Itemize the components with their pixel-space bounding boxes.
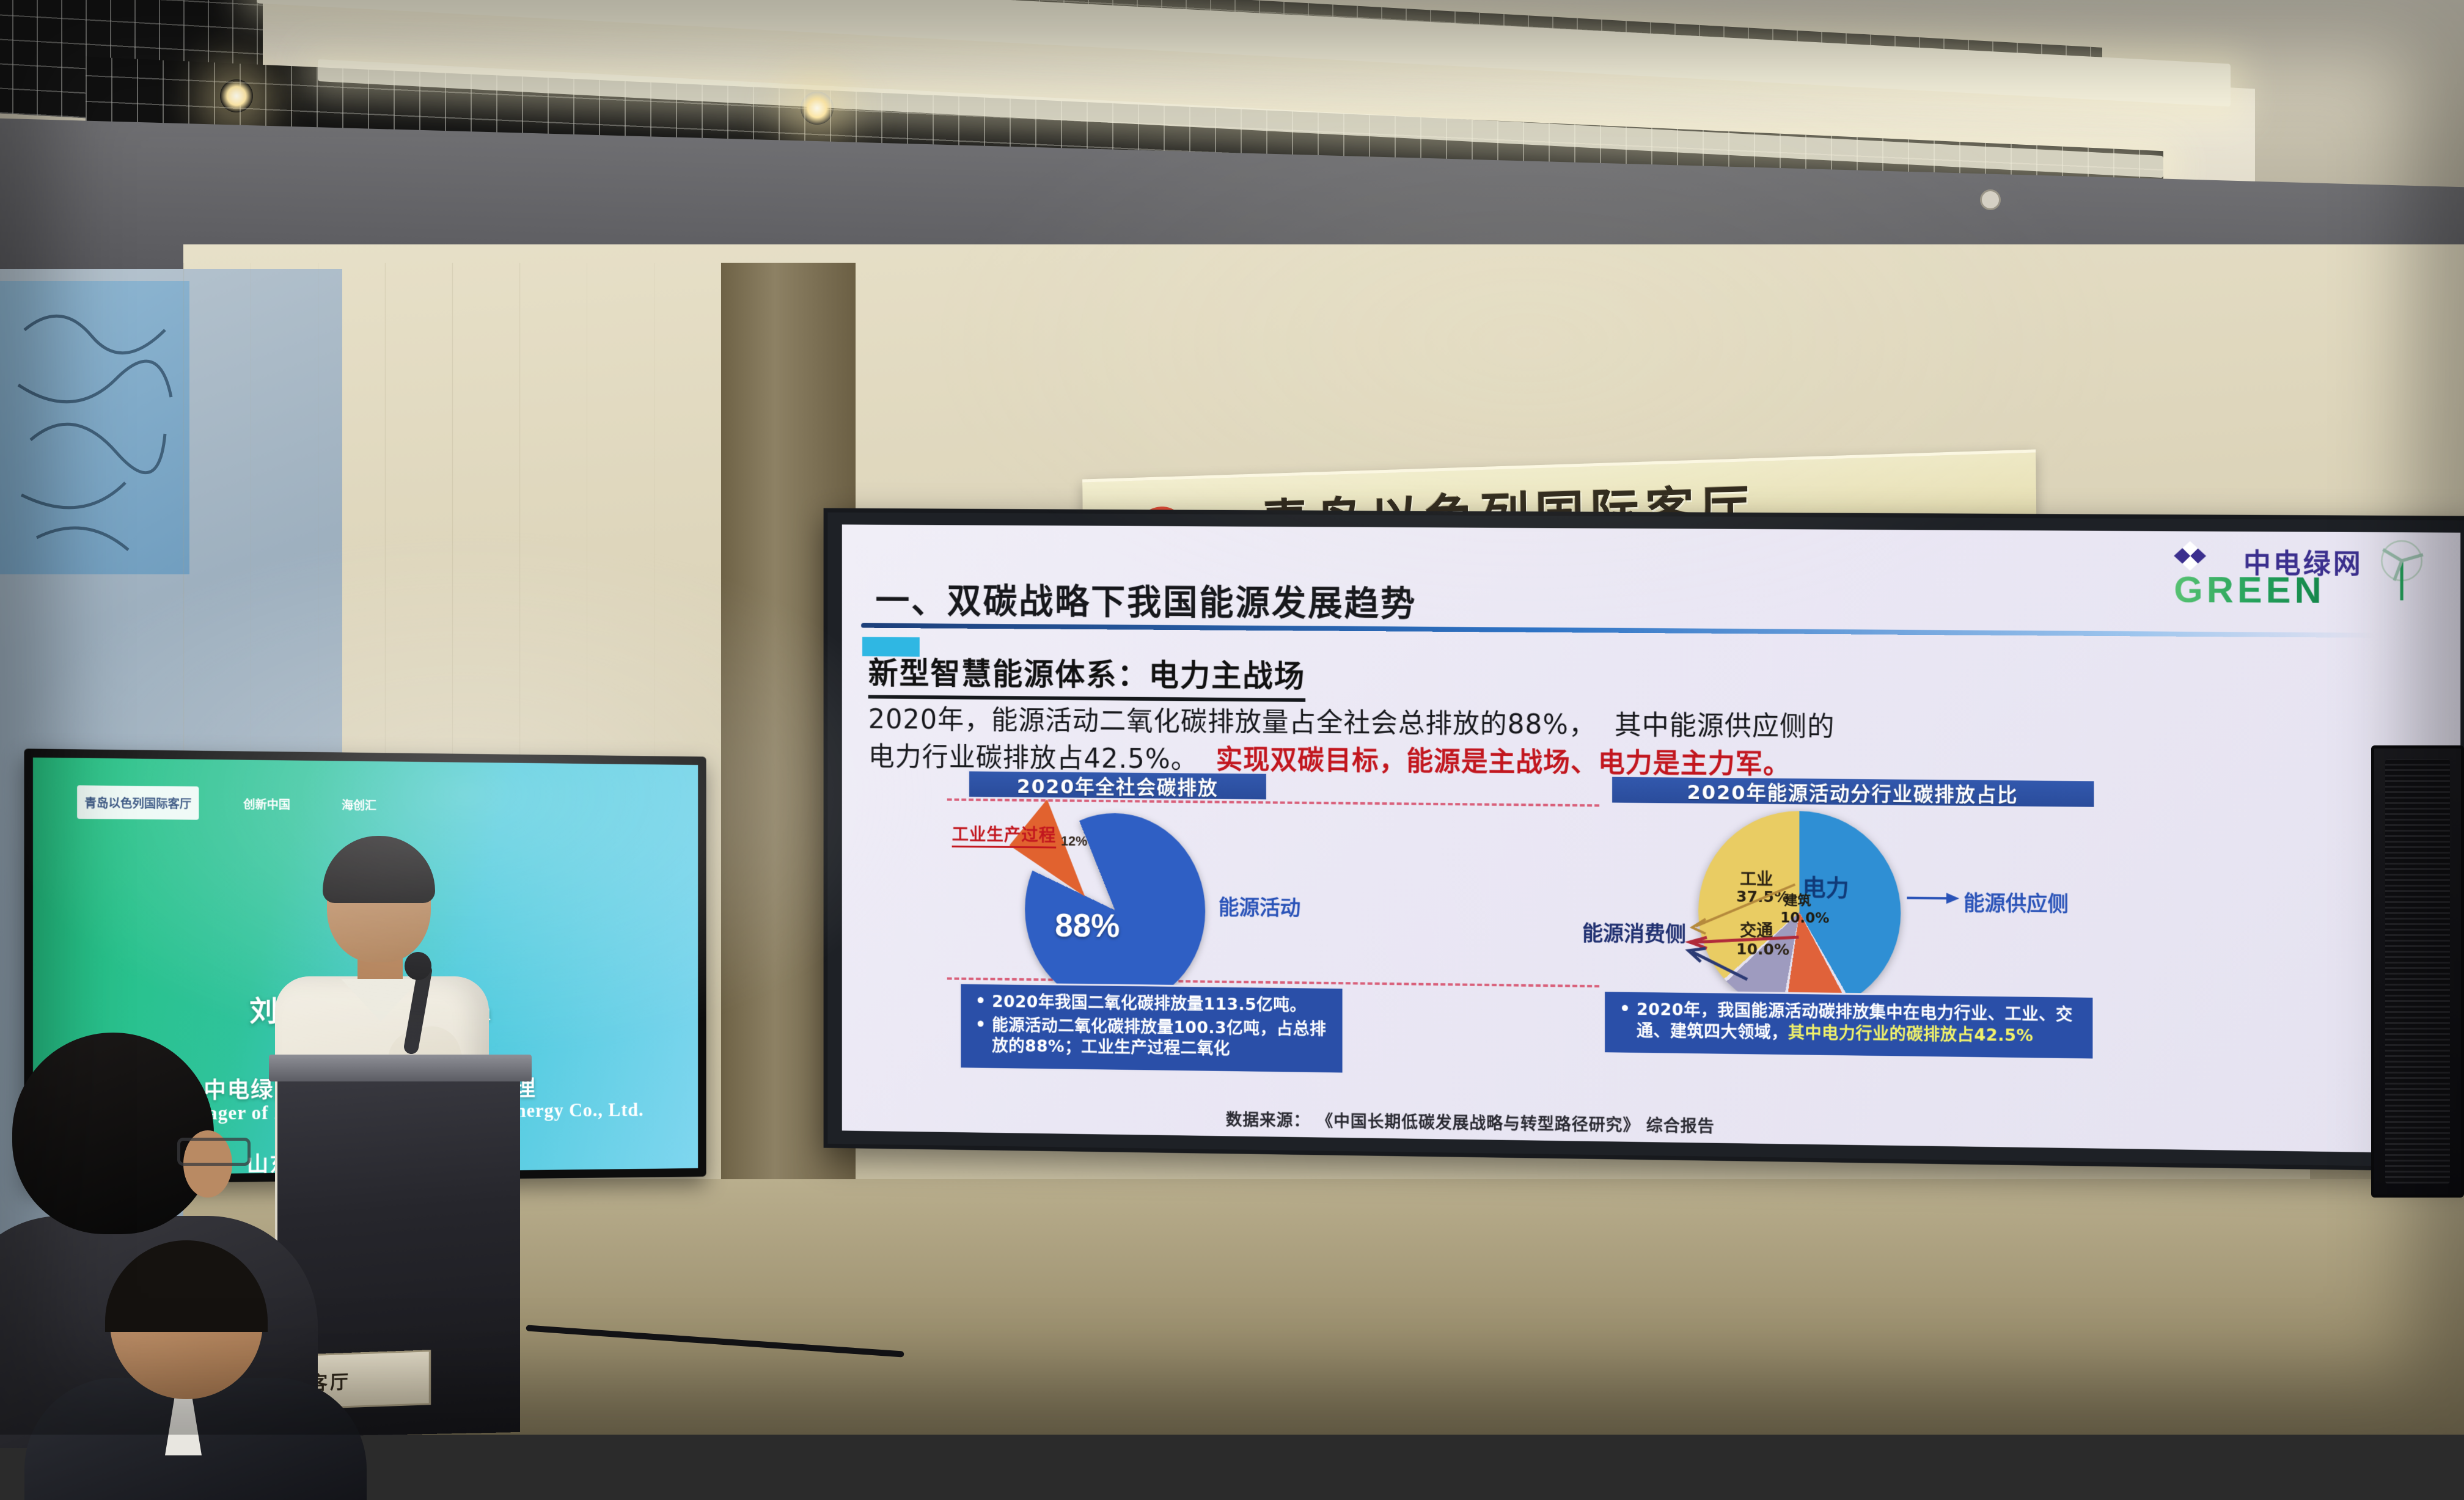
body-year: 2020年， — [868, 704, 991, 736]
projection-screen: 中电绿网 GREEN 一、双碳战略下我国能源发展趋势 新型智慧能源体系：电力主战… — [824, 508, 2464, 1172]
arrow-cluster-icon — [1674, 880, 1802, 986]
monitor-logo-innovation: 创新中国 — [236, 787, 298, 821]
audience-member-front — [0, 1246, 379, 1435]
zdg-green-logo: 中电绿网 GREEN — [2170, 540, 2432, 605]
downlight-icon — [220, 79, 253, 112]
chart-left-value-energy: 88% — [1055, 907, 1120, 945]
chart-left-value-industry: 12% — [1061, 833, 1087, 849]
left-wall-artwork — [0, 281, 189, 574]
conference-room-photo: 青岛以色列国际客厅 מועדון העסקים הבינלאומי צ'ינגד… — [0, 0, 2464, 1435]
chart-right-label-consume-side: 能源消费侧 — [1582, 916, 1686, 948]
chart-left-header: 2020年全社会碳排放 — [967, 769, 1268, 801]
body-clause-1: 能源活动二氧化碳排放量占全社会总排放的88%， — [991, 705, 1596, 741]
zdg-logo-english: GREEN — [2174, 568, 2325, 612]
monitor-logo-row: 青岛以色列国际客厅 创新中国 海创汇 — [77, 785, 384, 821]
wall-scribble-icon — [0, 281, 189, 574]
monitor-logo-haichuanghui: 海创汇 — [334, 788, 384, 821]
title-divider — [861, 623, 2374, 638]
slide-subtitle: 新型智慧能源体系：电力主战场 — [868, 649, 1305, 702]
presentation-slide: 中电绿网 GREEN 一、双碳战略下我国能源发展趋势 新型智慧能源体系：电力主战… — [842, 524, 2460, 1154]
list-item: 2020年我国二氧化碳排放量113.5亿吨。 — [972, 992, 1333, 1017]
monitor-logo-venue: 青岛以色列国际客厅 — [77, 785, 199, 819]
body-clause-2: 其中能源供应侧的 — [1615, 710, 1835, 743]
notes-box-left: 2020年我国二氧化碳排放量113.5亿吨。 能源活动二氧化碳排放量100.3亿… — [959, 982, 1344, 1075]
arrow-right-icon — [1907, 892, 1962, 905]
zdg-diamond-icon — [2174, 541, 2206, 571]
notes-box-right: 2020年，我国能源活动碳排放集中在电力行业、工业、交通、建筑四大领域，其中电力… — [1603, 990, 2094, 1060]
list-item: 2020年，我国能源活动碳排放集中在电力行业、工业、交通、建筑四大领域，其中电力… — [1616, 999, 2083, 1047]
note-highlight-text: 其中电力行业的碳排放占42.5% — [1788, 1023, 2034, 1045]
pa-speaker-grill — [2385, 759, 2450, 1184]
slide-source-note: 数据来源： 《中国长期低碳发展战略与转型路径研究》 综合报告 — [1226, 1107, 1715, 1137]
chart-right-label-supply-side: 能源供应侧 — [1964, 886, 2069, 917]
wind-turbine-icon — [2372, 540, 2432, 602]
glasses-icon — [177, 1138, 251, 1166]
microphone-head-icon — [405, 952, 431, 980]
chart-left-label-energy: 能源活动 — [1219, 891, 1300, 921]
chart-right: 2020年能源活动分行业碳排放占比 电力 工业 37.5% 交通 10.0% 建… — [1601, 775, 2216, 984]
smoke-detector-icon — [1980, 189, 2001, 210]
chart-left-label-industry: 工业生产过程 — [952, 821, 1057, 848]
chart-left: 2020年全社会碳排放 88% 12% 工业生产过程 能源活动 — [947, 769, 1344, 973]
chart-right-header: 2020年能源活动分行业碳排放占比 — [1610, 775, 2095, 809]
pa-speaker-box — [2371, 745, 2464, 1198]
slide-title: 一、双碳战略下我国能源发展趋势 — [875, 573, 1417, 626]
audience-front-hair — [105, 1240, 268, 1332]
audience-back-head — [12, 1033, 214, 1234]
list-item: 能源活动二氧化碳排放量100.3亿吨，占总排放的88%；工业生产过程二氧化 — [972, 1015, 1333, 1061]
downlight-icon — [801, 92, 834, 125]
wall-base — [183, 1179, 2464, 1435]
